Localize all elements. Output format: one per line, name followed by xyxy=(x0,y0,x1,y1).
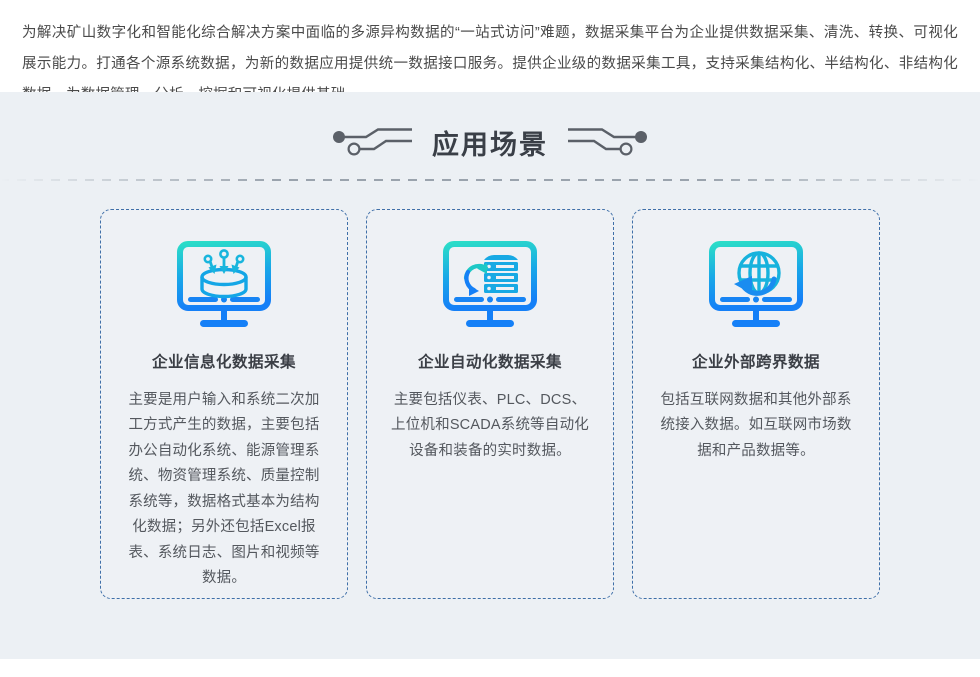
circuit-line-ornament-right-icon xyxy=(566,128,650,163)
scenario-card-title: 企业外部跨界数据 xyxy=(692,354,820,373)
application-scenarios-section: 应用场景 xyxy=(0,92,980,659)
scenario-card-body: 主要包括仪表、PLC、DCS、上位机和SCADA系统等自动化设备和装备的实时数据… xyxy=(389,388,591,465)
section-heading: 应用场景 xyxy=(0,92,980,163)
intro-band: 为解决矿山数字化和智能化综合解决方案中面临的多源异构数据的“一站式访问”难题，数… xyxy=(0,0,980,92)
circuit-line-ornament-left-icon xyxy=(330,128,414,163)
scenario-card-list: 企业信息化数据采集 主要是用户输入和系统二次加工方式产生的数据，主要包括办公自动… xyxy=(0,181,980,599)
scenario-card[interactable]: 企业外部跨界数据 包括互联网数据和其他外部系统接入数据。如互联网市场数据和产品数… xyxy=(632,209,880,599)
monitor-globe-exchange-icon xyxy=(704,240,808,332)
monitor-server-sync-icon xyxy=(438,240,542,332)
monitor-database-import-icon xyxy=(172,240,276,332)
scenario-card-body: 主要是用户输入和系统二次加工方式产生的数据，主要包括办公自动化系统、能源管理系统… xyxy=(123,388,325,592)
scenario-card[interactable]: 企业自动化数据采集 主要包括仪表、PLC、DCS、上位机和SCADA系统等自动化… xyxy=(366,209,614,599)
dashed-divider xyxy=(0,179,980,181)
scenario-card-title: 企业信息化数据采集 xyxy=(152,354,296,373)
scenario-card[interactable]: 企业信息化数据采集 主要是用户输入和系统二次加工方式产生的数据，主要包括办公自动… xyxy=(100,209,348,599)
scenario-card-body: 包括互联网数据和其他外部系统接入数据。如互联网市场数据和产品数据等。 xyxy=(655,388,857,465)
scenario-card-title: 企业自动化数据采集 xyxy=(418,354,562,373)
section-title: 应用场景 xyxy=(432,132,548,159)
